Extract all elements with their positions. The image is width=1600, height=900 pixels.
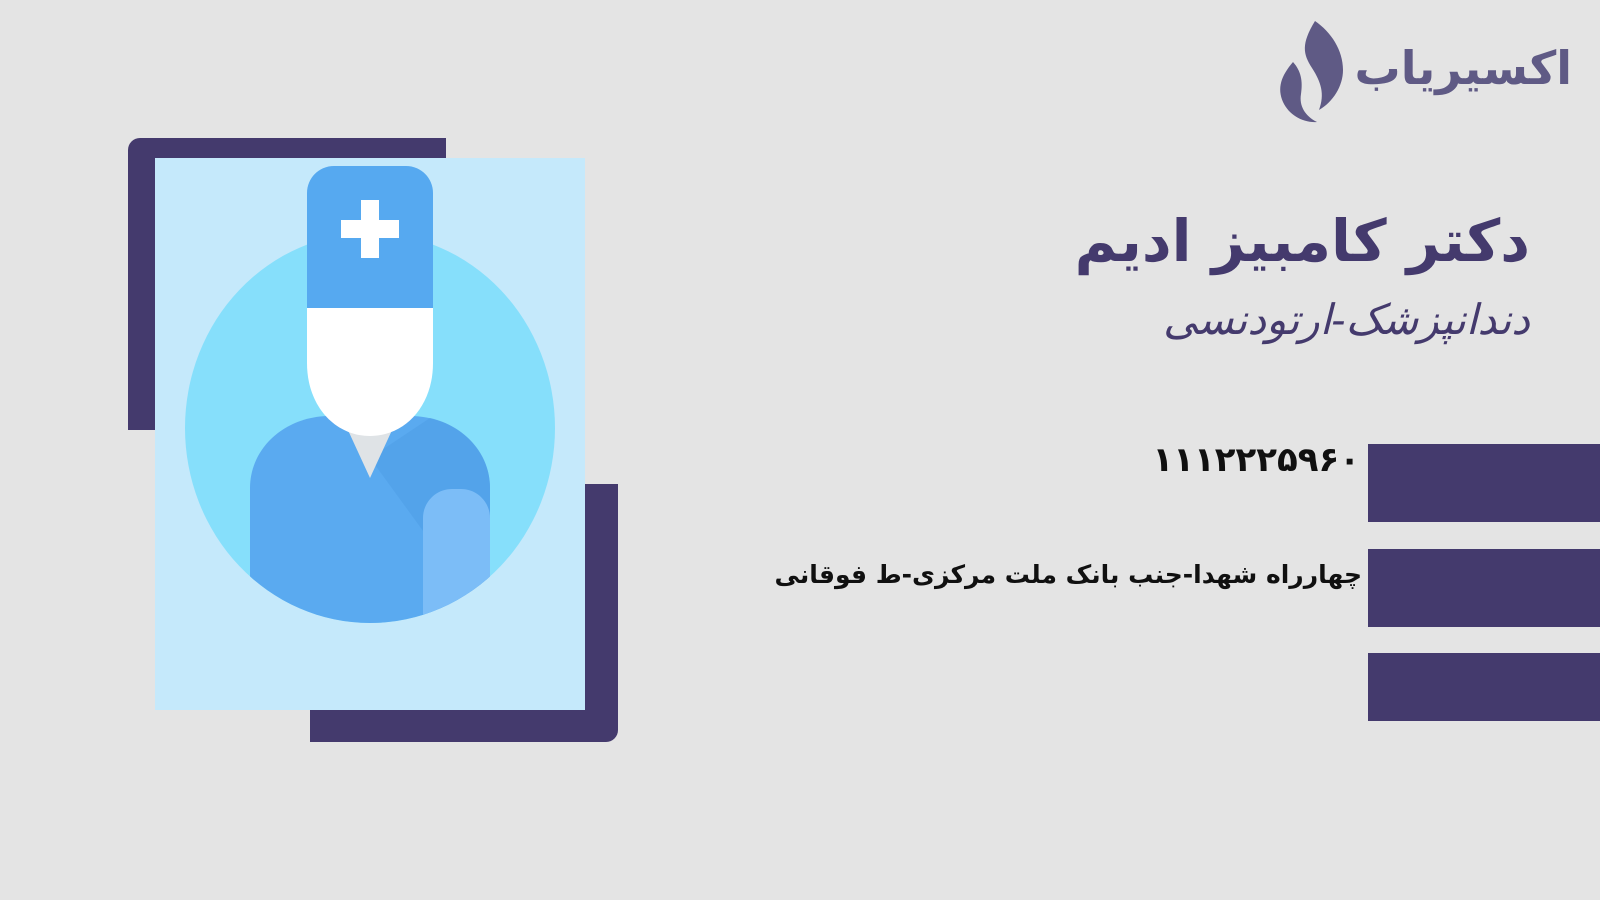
doctor-figure-icon [155, 158, 585, 710]
flame-droplet-icon [1263, 18, 1349, 126]
doctor-avatar-illustration [128, 138, 618, 742]
brand-logo[interactable]: اکسیریاب [1263, 18, 1573, 126]
decor-bar-3 [1368, 653, 1600, 721]
decor-bar-2 [1368, 549, 1600, 627]
doctor-address: چهارراه شهدا-جنب بانک ملت مرکزی-ط فوقانی [775, 560, 1362, 589]
decor-bar-1 [1368, 444, 1600, 522]
doctor-name: دکتر کامبیز ادیم [690, 205, 1530, 278]
doctor-phone[interactable]: ۱۱۱۲۲۲۵۹۶۰ [1152, 440, 1360, 480]
doctor-info-block: دکتر کامبیز ادیم دندانپزشک-ارتودنسی [690, 205, 1530, 348]
brand-name: اکسیریاب [1355, 45, 1573, 99]
doctor-specialty: دندانپزشک-ارتودنسی [690, 292, 1530, 349]
coat-sleeve [423, 489, 490, 623]
doctor-profile-card: اکسیریاب دکتر کامبیز ادیم دندانپزشک-ارتو… [0, 0, 1600, 900]
